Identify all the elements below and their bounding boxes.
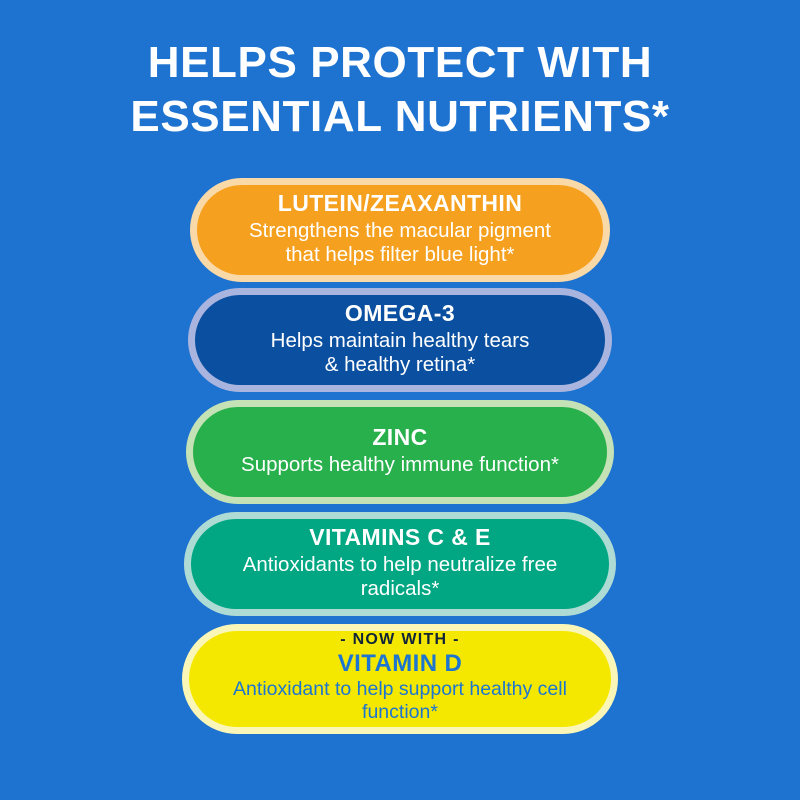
nutrient-title: OMEGA-3 (345, 300, 455, 327)
headline-line-1: HELPS PROTECT WITH (0, 36, 800, 90)
nutrient-pill-lutein-zeaxanthin: LUTEIN/ZEAXANTHIN Strengthens the macula… (190, 178, 610, 282)
nutrient-description-line-1: Supports healthy immune function* (241, 453, 559, 476)
nutrient-description: Helps maintain healthy tears & healthy r… (271, 329, 530, 377)
nutrient-description: Antioxidant to help support healthy cell… (215, 678, 585, 724)
nutrient-title: VITAMIN D (338, 650, 462, 678)
nutrient-pill-zinc: ZINC Supports healthy immune function* (186, 400, 614, 504)
nutrient-pill-stack: LUTEIN/ZEAXANTHIN Strengthens the macula… (0, 178, 800, 758)
infographic-poster: HELPS PROTECT WITH ESSENTIAL NUTRIENTS* … (0, 0, 800, 800)
nutrient-description-line-1: Strengthens the macular pigment (249, 219, 551, 242)
nutrient-description-line-1: Antioxidant to help support healthy cell… (233, 678, 567, 723)
nutrient-title: LUTEIN/ZEAXANTHIN (278, 190, 522, 217)
nutrient-description-line-2: that helps filter blue light* (249, 243, 551, 267)
nutrient-pill-vitamin-d: - NOW WITH - VITAMIN D Antioxidant to he… (182, 624, 618, 734)
nutrient-description: Strengthens the macular pigment that hel… (249, 219, 551, 267)
headline-line-2: ESSENTIAL NUTRIENTS* (0, 90, 800, 144)
nutrient-description-line-1: Helps maintain healthy tears (271, 329, 530, 352)
nutrient-pill-omega-3: OMEGA-3 Helps maintain healthy tears & h… (188, 288, 612, 392)
nutrient-description: Supports healthy immune function* (241, 453, 559, 477)
nutrient-description-line-1: Antioxidants to help neutralize free rad… (243, 553, 558, 600)
nutrient-title: VITAMINS C & E (309, 524, 491, 551)
nutrient-description-line-2: & healthy retina* (271, 353, 530, 377)
nutrient-title: ZINC (372, 424, 427, 451)
page-title: HELPS PROTECT WITH ESSENTIAL NUTRIENTS* (0, 36, 800, 143)
nutrient-eyebrow: - NOW WITH - (340, 631, 460, 649)
nutrient-pill-vitamins-c-and-e: VITAMINS C & E Antioxidants to help neut… (184, 512, 616, 616)
nutrient-description: Antioxidants to help neutralize free rad… (217, 553, 583, 601)
